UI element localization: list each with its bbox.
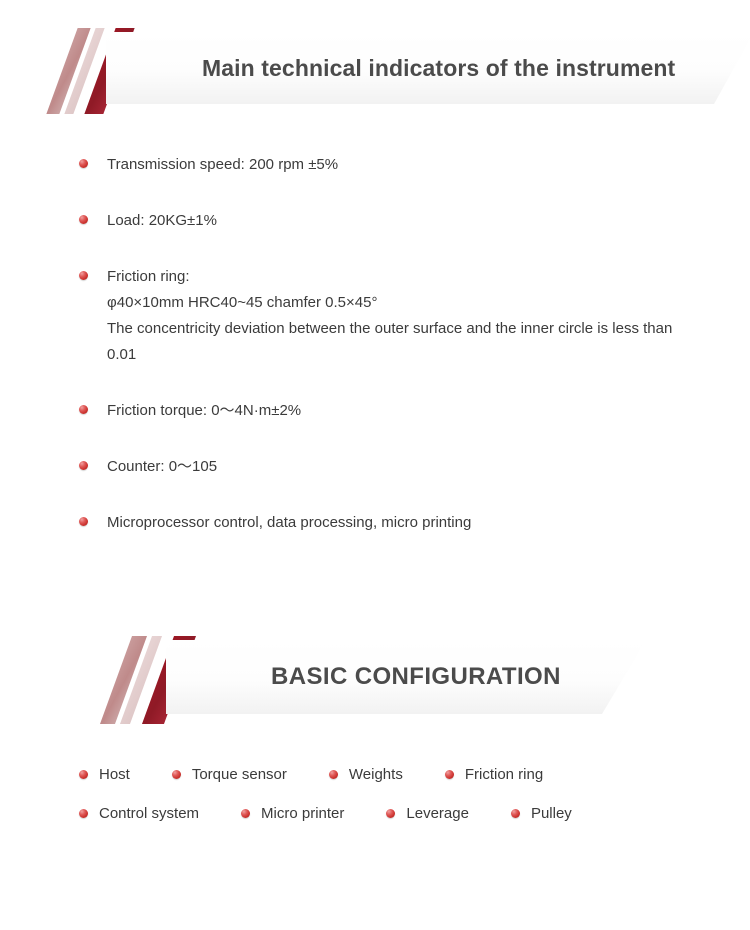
spec-text: Friction torque: 0〜4N·m±2% — [107, 398, 301, 424]
spec-line: Load: 20KG±1% — [107, 208, 217, 234]
config-item: Host — [79, 766, 130, 783]
config-row: Control system Micro printer Leverage Pu… — [79, 805, 750, 822]
spec-text: Microprocessor control, data processing,… — [107, 510, 471, 536]
list-item: Counter: 0〜105 — [0, 454, 750, 480]
config-item: Friction ring — [445, 766, 543, 783]
config-item: Micro printer — [241, 805, 344, 822]
bullet-dot-icon — [172, 770, 181, 779]
banner-panel: Main technical indicators of the instrum… — [106, 32, 750, 104]
list-item: Load: 20KG±1% — [0, 208, 750, 234]
list-item: Transmission speed: 200 rpm ±5% — [0, 152, 750, 178]
bullet-dot-icon — [79, 215, 88, 224]
spec-line: Counter: 0〜105 — [107, 454, 217, 480]
pale-slash-2-icon — [120, 636, 162, 724]
bullet-dot-icon — [445, 770, 454, 779]
spec-line: φ40×10mm HRC40~45 chamfer 0.5×45° — [107, 290, 682, 316]
config-item-label: Host — [99, 766, 130, 783]
config-item: Torque sensor — [172, 766, 287, 783]
config-item-label: Leverage — [406, 805, 469, 822]
bullet-dot-icon — [79, 271, 88, 280]
spec-line: Friction ring: — [107, 264, 682, 290]
bullet-dot-icon — [79, 461, 88, 470]
bullet-dot-icon — [241, 809, 250, 818]
bullet-dot-icon — [386, 809, 395, 818]
list-item: Friction ring: φ40×10mm HRC40~45 chamfer… — [0, 264, 750, 368]
list-item: Microprocessor control, data processing,… — [0, 510, 750, 536]
bullet-dot-icon — [79, 405, 88, 414]
pale-slash-2-icon — [64, 28, 104, 114]
bullet-dot-icon — [511, 809, 520, 818]
technical-indicators-banner: Main technical indicators of the instrum… — [60, 32, 750, 104]
bullet-dot-icon — [79, 159, 88, 168]
spec-line: Transmission speed: 200 rpm ±5% — [107, 152, 338, 178]
technical-specs-list: Transmission speed: 200 rpm ±5% Load: 20… — [0, 152, 750, 536]
pale-slash-icon — [100, 636, 147, 724]
bullet-dot-icon — [329, 770, 338, 779]
config-item-label: Pulley — [531, 805, 572, 822]
spec-line: Friction torque: 0〜4N·m±2% — [107, 398, 301, 424]
config-item-label: Friction ring — [465, 766, 543, 783]
basic-configuration-list: Host Torque sensor Weights Friction ring… — [0, 766, 750, 822]
spec-text: Transmission speed: 200 rpm ±5% — [107, 152, 338, 178]
config-item-label: Control system — [99, 805, 199, 822]
config-item: Leverage — [386, 805, 469, 822]
bullet-dot-icon — [79, 517, 88, 526]
config-item: Control system — [79, 805, 199, 822]
config-item-label: Weights — [349, 766, 403, 783]
config-item: Pulley — [511, 805, 572, 822]
basic-configuration-heading: BASIC CONFIGURATION — [271, 663, 561, 691]
spec-line: Microprocessor control, data processing,… — [107, 510, 471, 536]
basic-configuration-banner: BASIC CONFIGURATION — [112, 640, 750, 714]
config-item: Weights — [329, 766, 403, 783]
spec-line: The concentricity deviation between the … — [107, 316, 682, 368]
config-row: Host Torque sensor Weights Friction ring — [79, 766, 750, 783]
spec-text: Friction ring: φ40×10mm HRC40~45 chamfer… — [107, 264, 682, 368]
bullet-dot-icon — [79, 809, 88, 818]
technical-indicators-heading: Main technical indicators of the instrum… — [202, 55, 675, 82]
spec-text: Counter: 0〜105 — [107, 454, 217, 480]
spec-text: Load: 20KG±1% — [107, 208, 217, 234]
config-item-label: Torque sensor — [192, 766, 287, 783]
banner-panel: BASIC CONFIGURATION — [166, 640, 646, 714]
list-item: Friction torque: 0〜4N·m±2% — [0, 398, 750, 424]
config-item-label: Micro printer — [261, 805, 344, 822]
pale-slash-icon — [46, 28, 90, 114]
bullet-dot-icon — [79, 770, 88, 779]
